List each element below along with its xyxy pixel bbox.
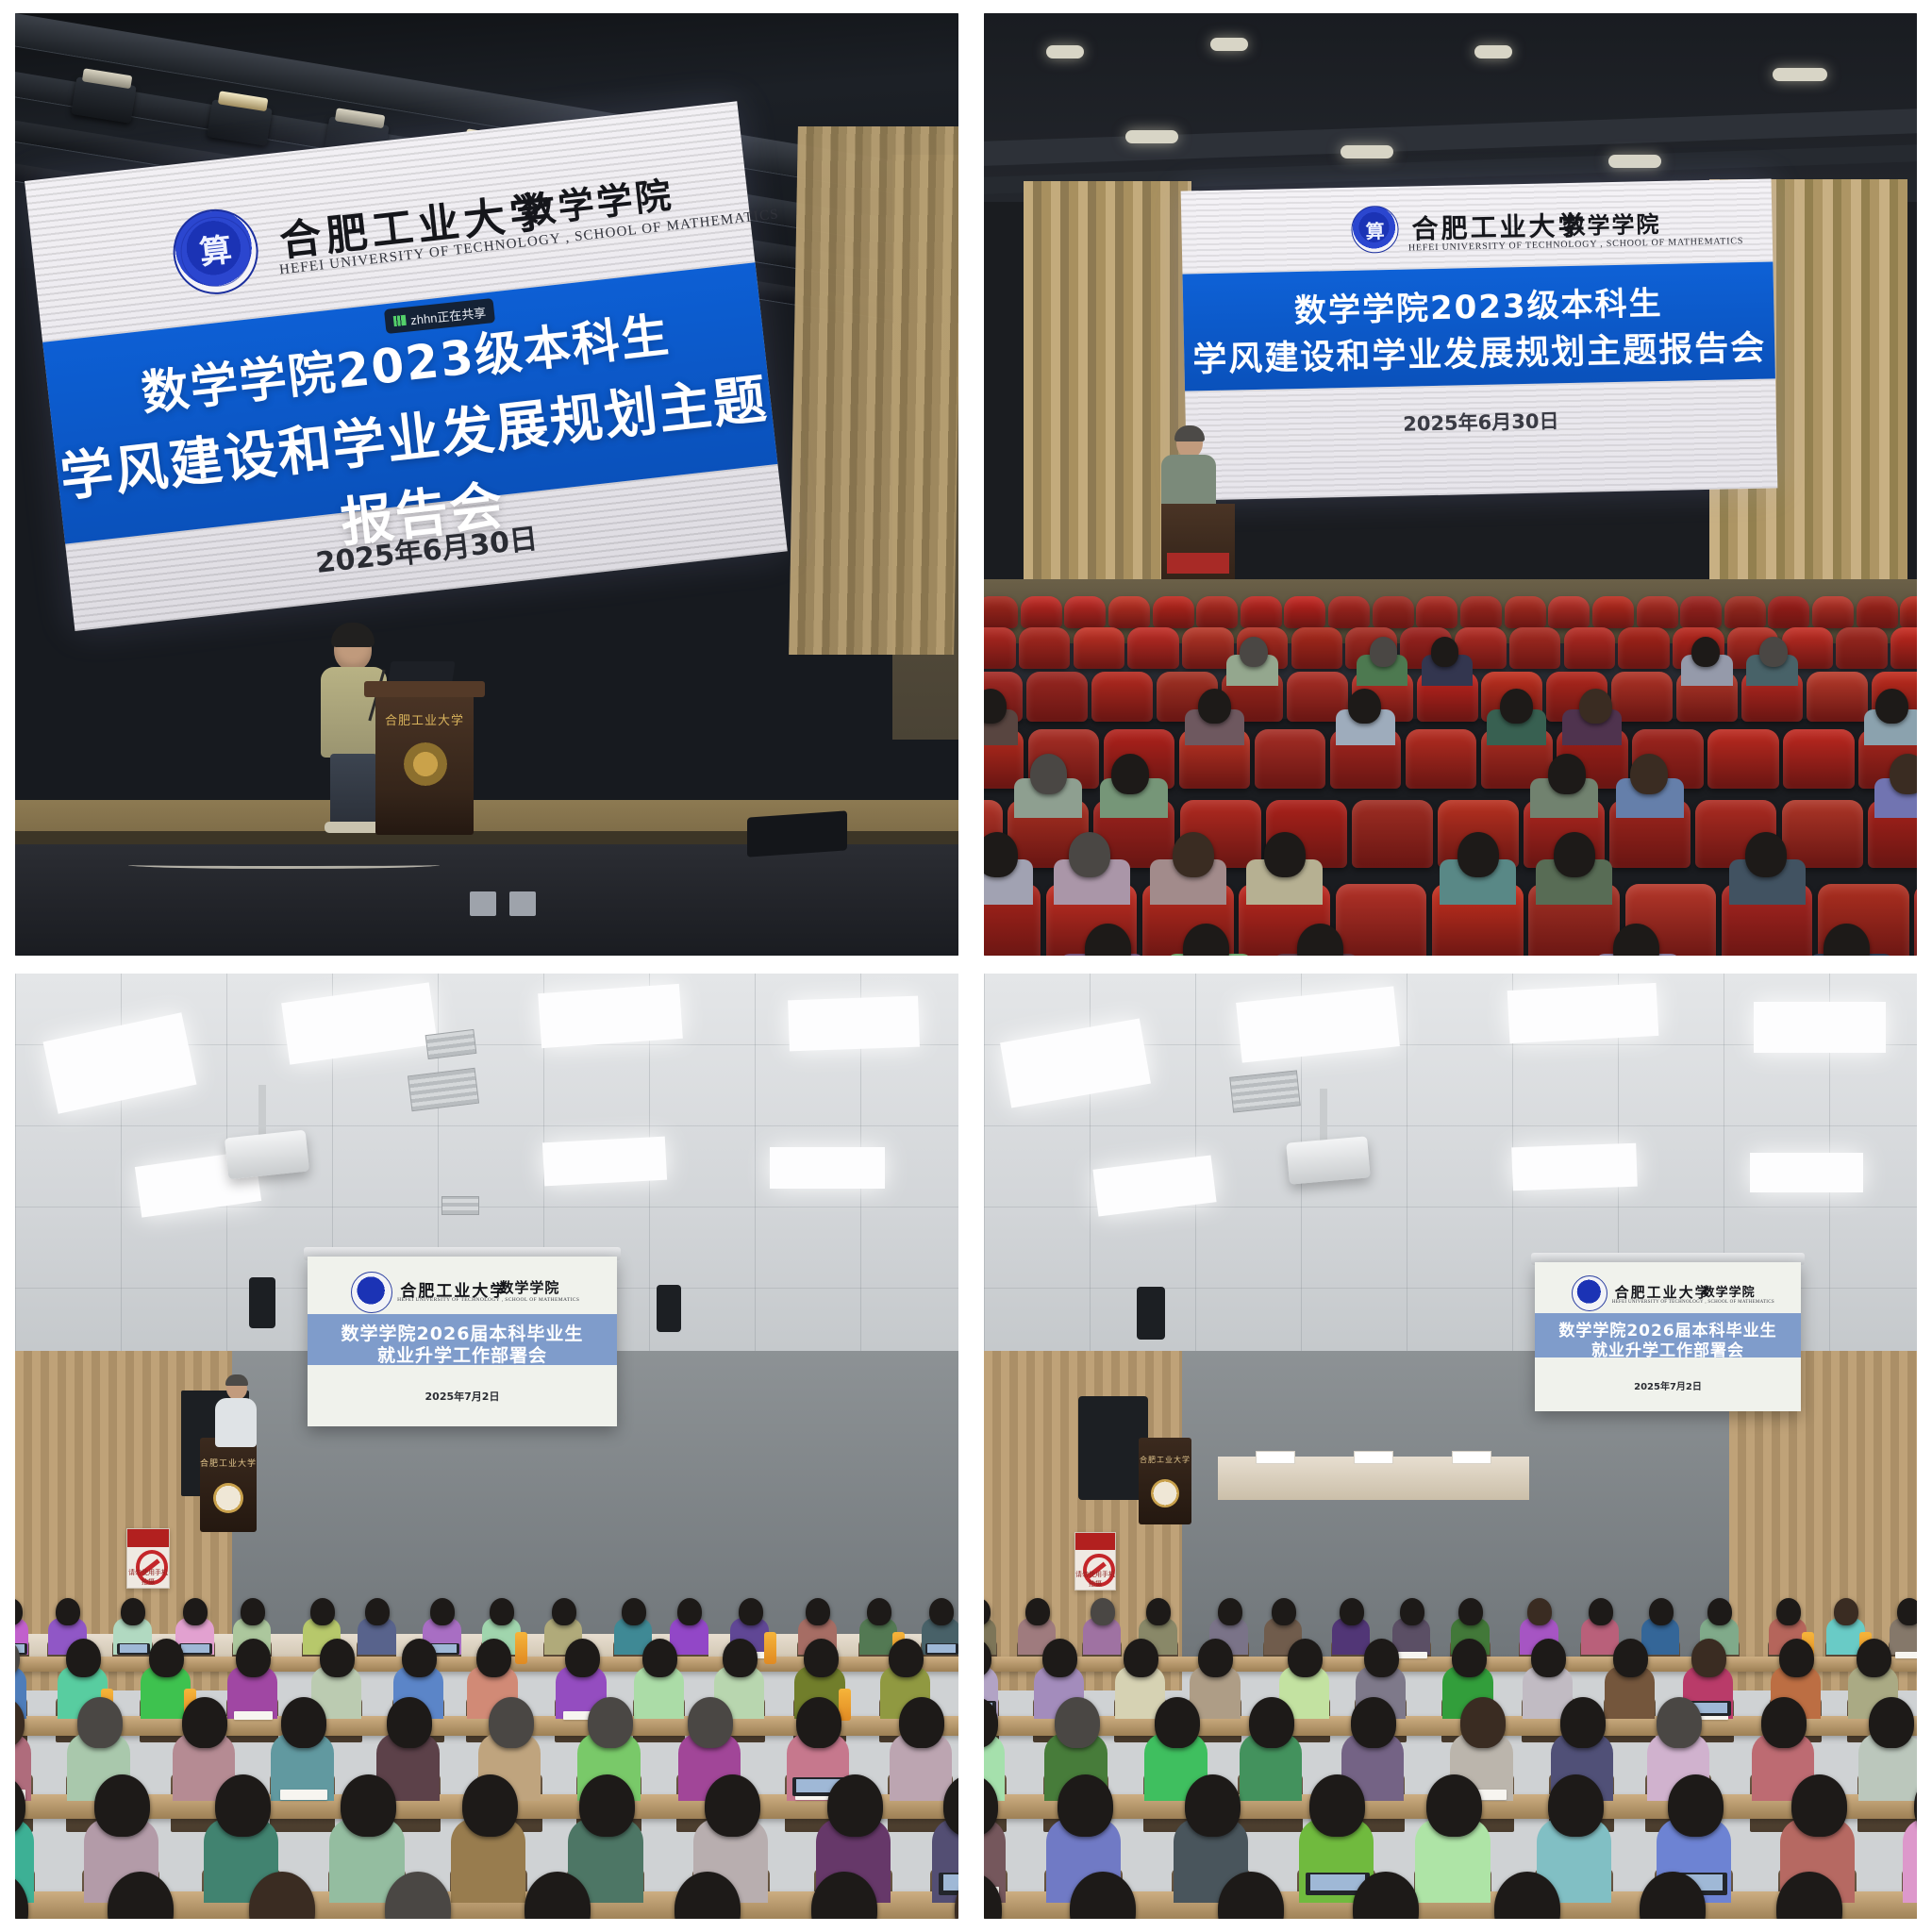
student-head — [1834, 1598, 1858, 1625]
auditorium-seat — [1241, 596, 1282, 628]
stage-monitor-speaker — [747, 810, 847, 857]
photo-classroom-left-view: 请勿使用手机拍摄 合肥工业大学 数学学院 HEFEI UNIVERSITY OF… — [15, 974, 958, 1919]
audience-head — [1030, 754, 1068, 794]
student-head — [1613, 1639, 1648, 1677]
student-head — [1691, 1639, 1726, 1677]
auditorium-seat — [1707, 729, 1779, 789]
ceiling-light — [1125, 130, 1178, 143]
projection-screen: 合肥工业大学 数学学院 HEFEI UNIVERSITY OF TECHNOLO… — [1535, 1262, 1801, 1411]
auditorium-seat — [1782, 800, 1863, 868]
audience-head — [1745, 832, 1787, 877]
auditorium-seat — [1291, 627, 1343, 669]
led-screen: 算 合肥工业大学 数学学院 HEFEI UNIVERSITY OF TECHNO… — [25, 101, 788, 631]
student-head — [1155, 1697, 1200, 1748]
student-head — [1452, 1639, 1487, 1677]
av-cabinet — [1078, 1396, 1148, 1500]
student-head — [579, 1774, 635, 1837]
ceiling-panel-light — [1754, 1002, 1886, 1053]
student-head — [1309, 1774, 1365, 1837]
student-head — [241, 1598, 265, 1625]
ceiling-panel-light — [542, 1137, 667, 1187]
student-head — [1426, 1774, 1482, 1837]
sign-caption: 请勿使用手机拍摄 — [1075, 1570, 1115, 1589]
auditorium-seat — [1914, 884, 1917, 956]
ceiling-panel-light — [1750, 1153, 1863, 1192]
podium-top — [364, 681, 485, 697]
student-head — [1791, 1774, 1847, 1837]
auditorium-seat — [1548, 596, 1590, 628]
audience-head — [1457, 832, 1499, 877]
audience-head — [1370, 637, 1398, 667]
auditorium-seat — [1836, 627, 1888, 669]
audience-head — [1759, 637, 1788, 667]
student-head — [622, 1598, 646, 1625]
podium: 合肥工业大学 — [375, 693, 474, 835]
person-torso — [215, 1398, 257, 1447]
student-head — [1869, 1697, 1914, 1748]
student-head — [1707, 1598, 1732, 1625]
student-head — [796, 1697, 841, 1748]
audience-head — [1431, 637, 1459, 667]
podium-seal-icon — [213, 1483, 243, 1513]
ceiling-panel-light — [1507, 983, 1659, 1043]
auditorium-seat — [1108, 596, 1150, 628]
student-head — [121, 1598, 145, 1625]
student-head — [1527, 1598, 1552, 1625]
student-head — [1458, 1598, 1483, 1625]
crest-glyph: 算 — [1365, 216, 1385, 243]
stage-curtain — [789, 126, 958, 655]
student-head — [1218, 1598, 1242, 1625]
slide-title-line2: 就业升学工作部署会 — [308, 1341, 617, 1367]
audience-head — [1579, 689, 1612, 724]
paper-sheet — [1895, 1652, 1917, 1658]
student-head — [1198, 1639, 1233, 1677]
sign-caption: 请勿使用手机拍摄 — [127, 1568, 169, 1587]
water-bottle — [764, 1632, 776, 1664]
person-hair — [331, 623, 375, 647]
student-head — [77, 1697, 123, 1748]
sign-header — [127, 1529, 169, 1547]
student-head — [723, 1639, 758, 1677]
auditorium-seat — [1026, 672, 1088, 722]
audience-head — [1875, 689, 1908, 724]
auditorium-seat — [1768, 596, 1809, 628]
slide-university-name: 合肥工业大学 — [1615, 1282, 1711, 1302]
student-head — [1460, 1697, 1506, 1748]
collage-panel-top-right: 算 合肥工业大学 数学学院 HEFEI UNIVERSITY OF TECHNO… — [984, 13, 1917, 956]
projection-screen: 合肥工业大学 数学学院 HEFEI UNIVERSITY OF TECHNOLO… — [308, 1257, 617, 1426]
student-head — [1560, 1697, 1606, 1748]
student-head — [1589, 1598, 1613, 1625]
person-hair — [225, 1374, 248, 1386]
student-head — [1185, 1774, 1241, 1837]
student-head — [215, 1774, 271, 1837]
projector-arm — [258, 1085, 266, 1140]
student-laptop — [179, 1643, 212, 1655]
collage-panel-bottom-right: 请勿使用手机拍摄 合肥工业大学 数学学院 HEFEI UNIVERSITY OF… — [984, 974, 1917, 1919]
student-head — [1055, 1697, 1100, 1748]
floor-cable — [128, 861, 440, 869]
photo-collage: 算 合肥工业大学 数学学院 HEFEI UNIVERSITY OF TECHNO… — [0, 0, 1932, 1932]
sign-header — [1075, 1533, 1115, 1550]
student-head — [1779, 1639, 1814, 1677]
person-shoes — [325, 822, 383, 833]
podium-label: 合肥工业大学 — [385, 710, 464, 728]
speaker-person — [215, 1377, 257, 1447]
student-head — [677, 1598, 702, 1625]
auditorium-seat — [1328, 596, 1370, 628]
auditorium-seat — [1900, 596, 1917, 628]
auditorium-seat — [1127, 627, 1179, 669]
auditorium-seat — [1724, 596, 1766, 628]
student-head — [1272, 1598, 1296, 1625]
student-head — [387, 1697, 432, 1748]
auditorium-seat — [1074, 627, 1125, 669]
ceiling-panel-light — [1511, 1143, 1638, 1191]
ceiling-light — [1773, 68, 1827, 81]
ceiling-light — [1608, 155, 1661, 168]
ceiling-projector — [225, 1130, 309, 1180]
student-head — [688, 1697, 733, 1748]
auditorium-seat — [1460, 596, 1502, 628]
audience-head — [1348, 689, 1381, 724]
collage-panel-bottom-left: 请勿使用手机拍摄 合肥工业大学 数学学院 HEFEI UNIVERSITY OF… — [15, 974, 958, 1919]
ceiling-light — [1210, 38, 1248, 51]
ceiling-projector — [1286, 1136, 1371, 1184]
wall-speaker — [1137, 1287, 1165, 1340]
university-crest-icon: 算 — [1351, 206, 1399, 254]
student-head — [1857, 1639, 1891, 1677]
ceiling-panel-light — [788, 996, 920, 1052]
student-head — [462, 1774, 518, 1837]
podium-label: 合肥工业大学 — [200, 1457, 257, 1469]
auditorium-seat — [1091, 672, 1153, 722]
audience-head — [1554, 832, 1595, 877]
auditorium-seat — [1352, 800, 1433, 868]
podium-seal-icon — [404, 742, 447, 786]
collage-panel-top-left: 算 合肥工业大学 数学学院 HEFEI UNIVERSITY OF TECHNO… — [15, 13, 958, 956]
auditorium-seat — [1890, 627, 1917, 669]
ceiling-panel-light — [770, 1147, 885, 1189]
student-laptop — [925, 1643, 958, 1655]
student-head — [1058, 1774, 1113, 1837]
paper-sheet — [234, 1711, 273, 1720]
student-head — [899, 1697, 944, 1748]
audience-head — [1240, 637, 1268, 667]
student-head — [1351, 1697, 1396, 1748]
auditorium-seat — [1064, 596, 1106, 628]
student-head — [1124, 1639, 1158, 1677]
student-head — [1400, 1598, 1424, 1625]
slide-school-name: 数学学院 — [499, 1277, 559, 1297]
student-head — [827, 1774, 883, 1837]
audience-head — [1890, 754, 1917, 794]
student-laptop — [117, 1643, 150, 1655]
auditorium-seat — [1680, 596, 1722, 628]
ceiling-light — [1046, 45, 1084, 58]
ceiling-light — [1474, 45, 1512, 58]
paper-sheet — [280, 1790, 327, 1800]
auditorium-seat — [1509, 627, 1561, 669]
student-head — [1897, 1598, 1917, 1625]
student-head — [804, 1639, 839, 1677]
student-head — [94, 1774, 150, 1837]
podium: 合肥工业大学 — [200, 1438, 257, 1532]
audience-head — [1111, 754, 1149, 794]
audience-seating — [984, 579, 1917, 956]
no-photography-sign: 请勿使用手机拍摄 — [1074, 1532, 1116, 1591]
wall-speaker — [657, 1285, 681, 1332]
student-head — [739, 1598, 763, 1625]
slide-date: 2025年7月2日 — [308, 1389, 617, 1404]
slide-english-name: HEFEI UNIVERSITY OF TECHNOLOGY , SCHOOL … — [1612, 1300, 1774, 1305]
photo-auditorium-audience-view: 算 合肥工业大学 数学学院 HEFEI UNIVERSITY OF TECHNO… — [984, 13, 1917, 956]
student-head — [552, 1598, 576, 1625]
water-bottle — [515, 1632, 527, 1664]
audience-head — [1198, 689, 1231, 724]
student-head — [1249, 1697, 1294, 1748]
auditorium-seat — [1255, 729, 1326, 789]
auditorium-seat — [984, 627, 1016, 669]
led-title-band: 数学学院2023级本科生 学风建设和学业发展规划主题报告会 — [1182, 261, 1774, 391]
no-photography-sign: 请勿使用手机拍摄 — [126, 1528, 170, 1589]
photo-classroom-right-view: 请勿使用手机拍摄 合肥工业大学 数学学院 HEFEI UNIVERSITY OF… — [984, 974, 1917, 1919]
student-head — [1146, 1598, 1171, 1625]
university-crest-icon: 算 — [169, 205, 262, 298]
auditorium-seat — [1373, 596, 1414, 628]
student-head — [183, 1598, 208, 1625]
projector-arm — [1320, 1089, 1327, 1143]
auditorium-seat — [984, 596, 1018, 628]
slide-date: 2025年7月2日 — [1535, 1378, 1801, 1392]
slide-english-name: HEFEI UNIVERSITY OF TECHNOLOGY , SCHOOL … — [397, 1297, 579, 1303]
student-head — [320, 1639, 355, 1677]
paper-sheet — [1398, 1652, 1427, 1658]
photo-auditorium-stage-wide: 算 合肥工业大学 数学学院 HEFEI UNIVERSITY OF TECHNO… — [15, 13, 958, 956]
student-head — [1649, 1598, 1674, 1625]
student-torso — [1903, 1818, 1917, 1902]
person-legs — [330, 754, 377, 827]
student-head — [490, 1598, 514, 1625]
student-head — [489, 1697, 534, 1748]
student-head — [281, 1697, 326, 1748]
auditorium-seat — [1416, 596, 1457, 628]
ceiling-panel-light — [538, 984, 683, 1048]
podium-banner — [1167, 553, 1229, 574]
student-head — [1548, 1774, 1604, 1837]
audience-head — [1173, 832, 1214, 877]
student-head — [182, 1697, 227, 1748]
student-head — [889, 1639, 924, 1677]
audience-head — [1548, 754, 1586, 794]
led-school-name: 数学学院 — [1562, 206, 1661, 241]
audience-head — [1069, 832, 1110, 877]
auditorium-seat — [1637, 596, 1678, 628]
auditorium-seat — [1284, 596, 1325, 628]
auditorium-seat — [1783, 729, 1855, 789]
slide-school-name: 数学学院 — [1703, 1282, 1756, 1300]
auditorium-seat — [1592, 596, 1634, 628]
university-crest-icon — [351, 1272, 392, 1313]
auditorium-seat — [1153, 596, 1194, 628]
crest-ring — [177, 213, 255, 291]
student-head — [642, 1639, 677, 1677]
student-head — [56, 1598, 80, 1625]
ceiling-vent — [441, 1196, 479, 1215]
student-head — [867, 1598, 891, 1625]
student-head — [1761, 1697, 1807, 1748]
student-head — [365, 1598, 390, 1625]
student-head — [1776, 1598, 1801, 1625]
wall-speaker — [249, 1277, 275, 1328]
student-head — [149, 1639, 184, 1677]
name-card — [1354, 1451, 1393, 1464]
ceiling-light — [1341, 145, 1393, 158]
auditorium-seat — [1406, 729, 1477, 789]
student-head — [1531, 1639, 1566, 1677]
auditorium-seat — [1021, 596, 1062, 628]
auditorium-seat — [1336, 884, 1427, 956]
led-date: 2025年6月30日 — [1186, 401, 1776, 441]
podium-seal-icon — [1151, 1479, 1179, 1507]
student-head — [1657, 1697, 1702, 1748]
share-badge-label: zhhn正在共享 — [409, 302, 487, 327]
auditorium-seat — [1564, 627, 1616, 669]
student-head — [66, 1639, 101, 1677]
auditorium-seat — [1807, 672, 1868, 722]
signal-bars-icon — [393, 314, 407, 325]
floor-plate — [470, 891, 496, 916]
student-head — [588, 1697, 633, 1748]
auditorium-seat — [1505, 596, 1546, 628]
auditorium-seat — [1618, 627, 1670, 669]
auditorium-seat — [1196, 596, 1238, 628]
auditorium-seat — [1019, 627, 1071, 669]
student-head — [705, 1774, 760, 1837]
audience-head — [1500, 689, 1533, 724]
led-screen: 算 合肥工业大学 数学学院 HEFEI UNIVERSITY OF TECHNO… — [1181, 178, 1778, 500]
student-head — [476, 1639, 511, 1677]
audience-head — [1630, 754, 1668, 794]
floor-plate — [509, 891, 536, 916]
name-card — [1452, 1451, 1491, 1464]
student-laptop — [939, 1873, 958, 1895]
auditorium-seat — [1857, 596, 1898, 628]
audience-head — [1264, 832, 1306, 877]
podium-label: 合肥工业大学 — [1139, 1455, 1191, 1465]
name-card — [1256, 1451, 1295, 1464]
student-head — [236, 1639, 271, 1677]
auditorium-seat — [1812, 596, 1854, 628]
student-head — [1340, 1598, 1364, 1625]
student-head — [806, 1598, 830, 1625]
ceiling-vent — [1229, 1070, 1301, 1112]
student-head — [565, 1639, 600, 1677]
student-head — [1364, 1639, 1399, 1677]
student-head — [929, 1598, 954, 1625]
student-head — [1042, 1639, 1077, 1677]
student-head — [1091, 1598, 1115, 1625]
student-head — [310, 1598, 335, 1625]
student-head — [1025, 1598, 1050, 1625]
student-head — [1288, 1639, 1323, 1677]
student-head — [341, 1774, 396, 1837]
audience-head — [1691, 637, 1720, 667]
person-hair — [1174, 425, 1205, 441]
student-head — [430, 1598, 455, 1625]
podium: 合肥工业大学 — [1139, 1438, 1191, 1524]
student-head — [1668, 1774, 1724, 1837]
student-head — [402, 1639, 437, 1677]
